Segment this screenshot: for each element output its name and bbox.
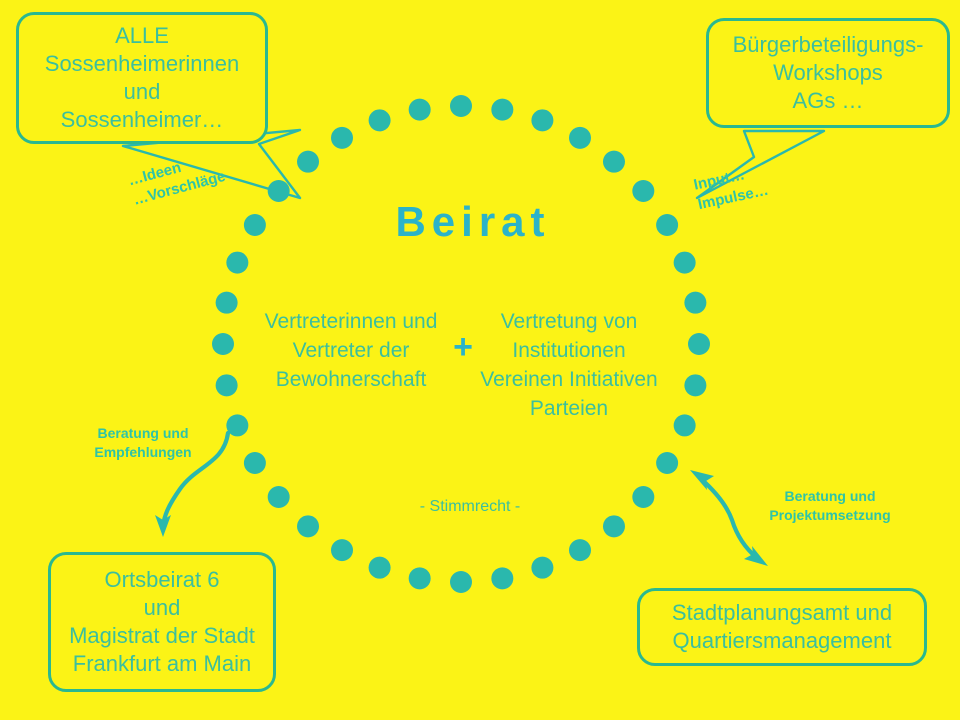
ring-dot — [632, 486, 654, 508]
callout-box-alle[interactable]: ALLE Sossenheimerinnen und Sossenheimer… — [16, 12, 268, 144]
callout-line: Magistrat der Stadt — [69, 622, 255, 650]
ring-dot — [268, 486, 290, 508]
callout-line: Sossenheimer… — [61, 106, 224, 134]
ring-dot — [632, 180, 654, 202]
center-left-column: Vertreterinnen und Vertreter der Bewohne… — [262, 308, 440, 395]
center-right-column: Vertretung von Institutionen Vereinen In… — [480, 308, 658, 424]
ring-dot — [688, 333, 710, 355]
arrowhead-right-up — [690, 470, 714, 490]
label-line: Beratung und — [78, 424, 208, 443]
arrowhead-left — [155, 515, 171, 537]
callout-line: Ortsbeirat 6 — [105, 566, 220, 594]
callout-line: AGs … — [793, 87, 864, 115]
center-right-line: Vertretung — [501, 310, 598, 333]
ring-dot — [531, 109, 553, 131]
label-line: Beratung und — [745, 487, 915, 506]
center-left-line: Bewohnerschaft — [276, 368, 427, 391]
ring-dot — [491, 99, 513, 121]
ring-dot — [409, 99, 431, 121]
ring-dot — [450, 571, 472, 593]
ring-dot — [369, 557, 391, 579]
callout-line: und — [124, 78, 161, 106]
center-left-line: Vertreterinnen — [265, 310, 397, 333]
diagram-canvas: Beirat + Vertreterinnen und Vertreter de… — [0, 0, 960, 720]
label-input-impulse: Input… Impulse… — [692, 161, 771, 216]
callout-line: ALLE — [115, 22, 169, 50]
callout-line: Frankfurt am Main — [73, 650, 252, 678]
callout-box-stadtplanungsamt[interactable]: Stadtplanungsamt und Quartiersmanagement — [637, 588, 927, 666]
center-right-line: Initiativen — [569, 368, 658, 391]
ring-dot — [297, 515, 319, 537]
callout-line: Quartiersmanagement — [673, 627, 892, 655]
ring-dot — [331, 127, 353, 149]
ring-dot — [656, 214, 678, 236]
page-title: Beirat — [318, 198, 628, 246]
center-left-line: der — [379, 339, 409, 362]
center-right-line: Vereinen — [480, 368, 563, 391]
plus-icon: + — [448, 330, 478, 364]
ring-dot — [684, 292, 706, 314]
center-right-line: Institutionen — [512, 339, 625, 362]
arrowhead-right-down — [744, 546, 768, 566]
ring-dot — [226, 252, 248, 274]
callout-line: und — [144, 594, 181, 622]
ring-dot — [244, 452, 266, 474]
label-beratung-projektumsetzung: Beratung und Projektumsetzung — [745, 487, 915, 525]
callout-line: Stadtplanungsamt und — [672, 599, 892, 627]
ring-dot — [409, 567, 431, 589]
ring-dot — [331, 539, 353, 561]
callout-line: Workshops — [773, 59, 883, 87]
ring-dot — [569, 539, 591, 561]
ring-dot — [297, 151, 319, 173]
center-right-line: von — [603, 310, 637, 333]
label-line: Projektumsetzung — [745, 506, 915, 525]
ring-dot — [531, 557, 553, 579]
ring-dot — [450, 95, 472, 117]
callout-line: Sossenheimerinnen — [45, 50, 239, 78]
ring-dot — [212, 333, 234, 355]
ring-dot — [603, 515, 625, 537]
label-line: Empfehlungen — [78, 443, 208, 462]
ring-dot — [491, 567, 513, 589]
ring-dot — [569, 127, 591, 149]
callout-box-ortsbeirat[interactable]: Ortsbeirat 6 und Magistrat der Stadt Fra… — [48, 552, 276, 692]
ring-dot — [674, 414, 696, 436]
stimmrecht-note: - Stimmrecht - — [375, 498, 565, 516]
ring-dot — [684, 374, 706, 396]
ring-dot — [216, 374, 238, 396]
label-ideen-vorschlaege: …Ideen …Vorschläge — [126, 147, 228, 211]
callout-box-buergerbeteiligung[interactable]: Bürgerbeteiligungs- Workshops AGs … — [706, 18, 950, 128]
ring-dot — [674, 252, 696, 274]
ring-dot — [216, 292, 238, 314]
label-beratung-empfehlungen: Beratung und Empfehlungen — [78, 424, 208, 462]
ring-dot — [226, 414, 248, 436]
callout-line: Bürgerbeteiligungs- — [733, 31, 924, 59]
center-right-line: Parteien — [530, 397, 608, 420]
ring-dot — [603, 151, 625, 173]
ring-dot — [656, 452, 678, 474]
ring-dot — [268, 180, 290, 202]
ring-dot — [244, 214, 266, 236]
ring-dot — [369, 109, 391, 131]
